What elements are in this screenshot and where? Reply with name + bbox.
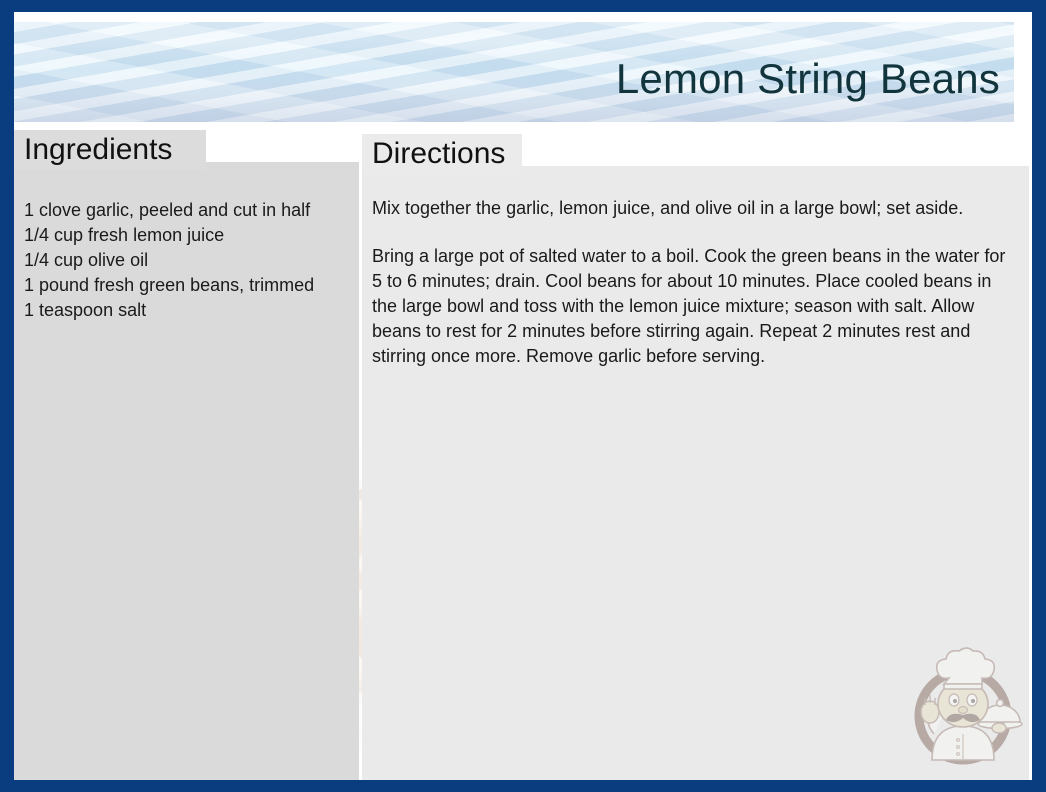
header-banner: Lemon String Beans <box>14 22 1014 122</box>
ingredients-heading: Ingredients <box>24 132 172 168</box>
directions-text: Mix together the garlic, lemon juice, an… <box>372 196 1020 369</box>
list-item: 1 pound fresh green beans, trimmed <box>24 273 344 298</box>
chef-mascot-logo <box>900 642 1026 768</box>
list-item: 1 teaspoon salt <box>24 298 344 323</box>
directions-heading: Directions <box>372 136 505 172</box>
ingredients-list: 1 clove garlic, peeled and cut in half 1… <box>24 198 344 323</box>
directions-paragraph: Mix together the garlic, lemon juice, an… <box>372 196 1020 221</box>
slide-page: Lemon String Beans <box>14 12 1032 780</box>
page-title: Lemon String Beans <box>616 56 1000 102</box>
directions-paragraph: Bring a large pot of salted water to a b… <box>372 244 1020 369</box>
list-item: 1/4 cup olive oil <box>24 248 344 273</box>
list-item: 1 clove garlic, peeled and cut in half <box>24 198 344 223</box>
slide-frame: Lemon String Beans <box>0 0 1046 792</box>
ingredients-panel: Ingredients 1 clove garlic, peeled and c… <box>14 130 359 780</box>
list-item: 1/4 cup fresh lemon juice <box>24 223 344 248</box>
